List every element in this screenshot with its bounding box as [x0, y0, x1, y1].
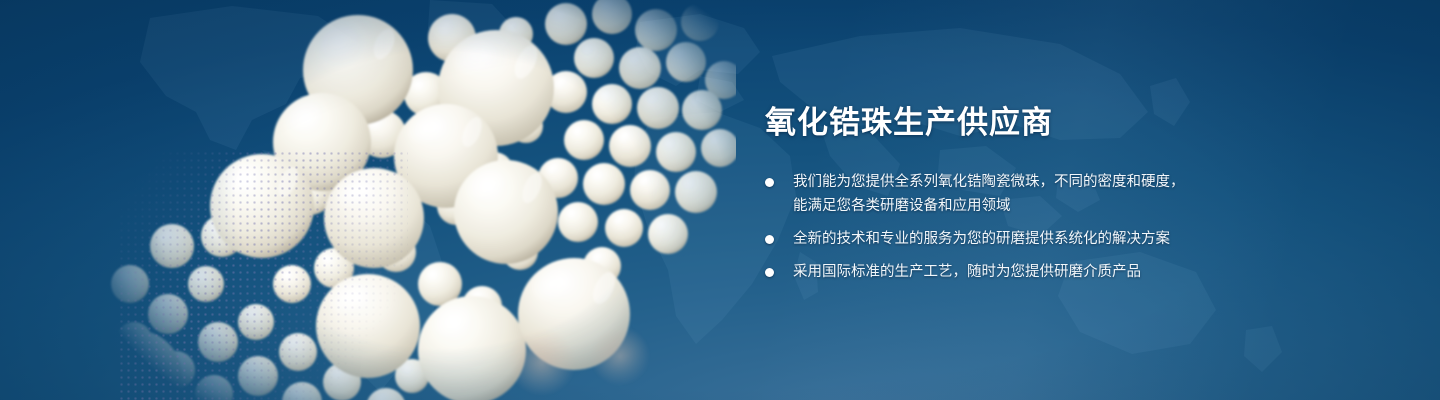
background-vignette [0, 0, 1440, 400]
product-hero-banner: 氧化锆珠生产供应商 我们能为您提供全系列氧化锆陶瓷微珠，不同的密度和硬度， 能满… [0, 0, 1440, 400]
